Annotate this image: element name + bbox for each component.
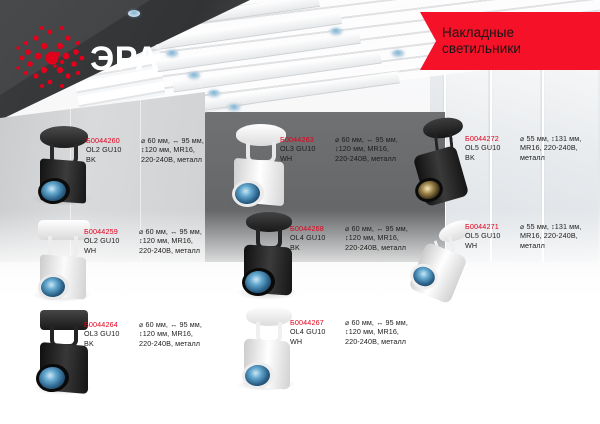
product-finish: WH bbox=[465, 241, 513, 250]
luminaire-image-ol4-wh bbox=[230, 302, 302, 394]
product-card[interactable]: Б0044259 OL2 GU10 WH ⌀ 60 мм, ↔ 95 мм, ↕… bbox=[22, 214, 217, 306]
product-label: Б0044272 OL5 GU10 BK ⌀ 55 мм, ↕131 мм, M… bbox=[465, 134, 598, 162]
product-model: OL2 GU10 bbox=[86, 145, 134, 154]
ceiling-spot-icon bbox=[188, 72, 200, 79]
product-finish: WH bbox=[280, 154, 328, 163]
product-card[interactable]: Б0044260 OL2 GU10 BK ⌀ 60 мм, ↔ 95 мм, ↕… bbox=[22, 120, 217, 210]
product-label: Б0044263 OL3 GU10 WH ⌀ 60 мм, ↔ 95 мм, ↕… bbox=[280, 135, 413, 163]
product-finish: BK bbox=[290, 243, 338, 252]
product-spec: ⌀ 60 мм, ↔ 95 мм, ↕120 мм, MR16, 220-240… bbox=[139, 227, 217, 255]
product-model: OL4 GU10 bbox=[290, 327, 338, 336]
product-model: OL5 GU10 bbox=[465, 143, 513, 152]
product-label: Б0044267 OL4 GU10 WH ⌀ 60 мм, ↔ 95 мм, ↕… bbox=[290, 318, 423, 346]
ceiling-spot-icon bbox=[392, 50, 404, 57]
product-code: Б0044264 bbox=[84, 320, 132, 329]
product-spec: ⌀ 60 мм, ↔ 95 мм, ↕120 мм, MR16, 220-240… bbox=[335, 135, 413, 163]
product-spec: ⌀ 55 мм, ↕131 мм, MR16, 220-240В, металл bbox=[520, 222, 598, 250]
product-finish: BK bbox=[86, 155, 134, 164]
ceiling-spot-icon bbox=[128, 10, 140, 17]
ceiling-spot-icon bbox=[228, 104, 240, 111]
product-spec: ⌀ 60 мм, ↔ 95 мм, ↕120 мм, MR16, 220-240… bbox=[345, 318, 423, 346]
product-card[interactable]: Б0044268 OL4 GU10 BK ⌀ 60 мм, ↔ 95 мм, ↕… bbox=[228, 208, 423, 304]
product-finish: WH bbox=[84, 246, 132, 255]
product-model: OL2 GU10 bbox=[84, 236, 132, 245]
product-finish: WH bbox=[290, 337, 338, 346]
product-card[interactable]: Б0044264 OL3 GU10 BK ⌀ 60 мм, ↔ 95 мм, ↕… bbox=[22, 306, 217, 398]
era-logo: ЭРА ® bbox=[14, 22, 164, 88]
product-model: OL3 GU10 bbox=[280, 144, 328, 153]
svg-text:®: ® bbox=[155, 43, 161, 52]
product-card[interactable]: Б0044272 OL5 GU10 BK ⌀ 55 мм, ↕131 мм, M… bbox=[405, 112, 595, 212]
product-code: Б0044272 bbox=[465, 134, 513, 143]
banner-line-1: Накладные bbox=[442, 25, 514, 40]
product-code: Б0044271 bbox=[465, 222, 513, 231]
product-spec: ⌀ 55 мм, ↕131 мм, MR16, 220-240В, металл bbox=[520, 134, 598, 162]
luminaire-image-ol5-wh bbox=[402, 204, 474, 302]
product-code: Б0044260 bbox=[86, 136, 134, 145]
luminaire-image-ol3-wh bbox=[222, 118, 296, 210]
product-spec: ⌀ 60 мм, ↔ 95 мм, ↕120 мм, MR16, 220-240… bbox=[139, 320, 217, 348]
product-code: Б0044268 bbox=[290, 224, 338, 233]
product-label: Б0044264 OL3 GU10 BK ⌀ 60 мм, ↔ 95 мм, ↕… bbox=[84, 320, 217, 348]
product-model: OL3 GU10 bbox=[84, 329, 132, 338]
category-banner: Накладные светильники bbox=[420, 12, 600, 70]
ceiling-spot-icon bbox=[166, 50, 178, 57]
product-card[interactable]: Б0044267 OL4 GU10 WH ⌀ 60 мм, ↔ 95 мм, ↕… bbox=[228, 302, 423, 396]
product-finish: BK bbox=[84, 339, 132, 348]
product-model: OL5 GU10 bbox=[465, 231, 513, 240]
product-finish: BK bbox=[465, 153, 513, 162]
era-eye-logo-icon: ЭРА ® bbox=[14, 22, 164, 88]
product-code: Б0044267 bbox=[290, 318, 338, 327]
product-model: OL4 GU10 bbox=[290, 233, 338, 242]
catalog-page: ЭРА ® Накладные светильники Б0044260 OL2… bbox=[0, 0, 600, 424]
svg-text:ЭРА: ЭРА bbox=[90, 40, 160, 78]
product-card[interactable]: Б0044271 OL5 GU10 WH ⌀ 55 мм, ↕131 мм, M… bbox=[400, 204, 595, 304]
product-code: Б0044263 bbox=[280, 135, 328, 144]
product-label: Б0044259 OL2 GU10 WH ⌀ 60 мм, ↔ 95 мм, ↕… bbox=[84, 227, 217, 255]
product-label: Б0044260 OL2 GU10 BK ⌀ 60 мм, ↔ 95 мм, ↕… bbox=[86, 136, 219, 164]
product-label: Б0044271 OL5 GU10 WH ⌀ 55 мм, ↕131 мм, M… bbox=[465, 222, 598, 250]
banner-line-2: светильники bbox=[442, 41, 521, 56]
category-banner-text: Накладные светильники bbox=[442, 25, 521, 57]
ceiling-spot-icon bbox=[208, 90, 220, 97]
product-code: Б0044259 bbox=[84, 227, 132, 236]
product-card[interactable]: Б0044263 OL3 GU10 WH ⌀ 60 мм, ↔ 95 мм, ↕… bbox=[218, 118, 413, 213]
luminaire-image-ol4-bk bbox=[230, 208, 304, 302]
product-spec: ⌀ 60 мм, ↔ 95 мм, ↕120 мм, MR16, 220-240… bbox=[141, 136, 219, 164]
ceiling-spot-icon bbox=[330, 28, 342, 35]
